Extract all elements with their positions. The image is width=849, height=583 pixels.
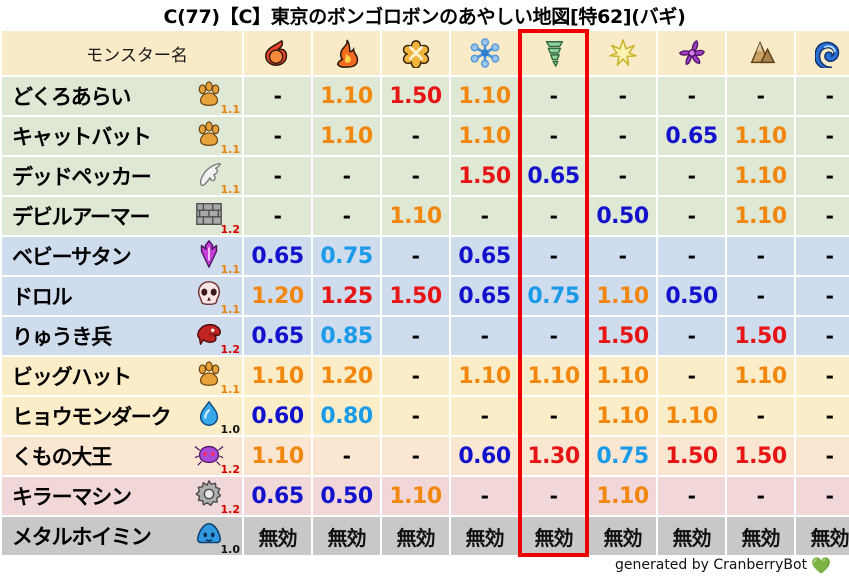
footer-credit: generated by CranberryBot💚: [615, 556, 831, 575]
droplet-icon: [194, 399, 224, 429]
resist-cell-io: -: [382, 157, 449, 195]
monster-name: くもの大王: [12, 441, 111, 471]
monster-multiplier: 1.2: [221, 343, 241, 356]
resist-cell-gira: -: [313, 437, 380, 475]
resist-cell-dein: -: [589, 77, 656, 115]
fireball-icon: [244, 38, 311, 68]
monster-multiplier: 1.2: [221, 503, 241, 516]
resist-cell-dein: 0.75: [589, 437, 656, 475]
resist-cell-io: -: [382, 237, 449, 275]
resist-cell-dorma: -: [658, 197, 725, 235]
pawprint-icon: [194, 119, 224, 149]
monster-name: ドロル: [12, 281, 71, 311]
resist-cell-dorma: 0.65: [658, 117, 725, 155]
resist-cell-bagi: 1.30: [520, 437, 587, 475]
resist-cell-gira: 無効: [313, 517, 380, 555]
resist-cell-bagi: 0.75: [520, 277, 587, 315]
resist-cell-meragi: -: [244, 197, 311, 235]
monster-name: メタルホイミン: [12, 521, 151, 551]
resist-cell-meragi: 無効: [244, 517, 311, 555]
resist-cell-hyado: 1.10: [451, 117, 518, 155]
monster-name-cell[interactable]: キラーマシン1.2: [2, 477, 242, 515]
resist-cell-merazoma: 無効: [796, 517, 849, 555]
resist-cell-jiba: 1.10: [727, 157, 794, 195]
resist-cell-merazoma: -: [796, 317, 849, 355]
resist-cell-meragi: 0.65: [244, 237, 311, 275]
resist-cell-bagi: 0.65: [520, 157, 587, 195]
monster-name: デッドペッカー: [12, 161, 151, 191]
table-row: メタルホイミン1.0無効無効無効無効無効無効無効無効無効: [2, 517, 849, 555]
resist-cell-dein: 0.50: [589, 197, 656, 235]
resist-cell-jiba: 1.10: [727, 197, 794, 235]
resist-cell-gira: -: [313, 197, 380, 235]
column-header-meragi[interactable]: [244, 31, 311, 75]
report-page: C(77)【C】東京のボンゴロボンのあやしい地図[特62](バギ) モンスター名…: [0, 0, 849, 583]
resist-cell-io: -: [382, 357, 449, 395]
resist-cell-dorma: 無効: [658, 517, 725, 555]
monster-name: キャットバット: [12, 121, 151, 151]
resist-cell-dein: 1.10: [589, 477, 656, 515]
pawprint-icon: [194, 79, 224, 109]
resist-cell-dorma: 1.10: [658, 397, 725, 435]
resist-cell-hyado: 1.10: [451, 77, 518, 115]
resist-cell-io: 1.50: [382, 277, 449, 315]
monster-multiplier: 1.1: [221, 103, 241, 116]
explosion-icon: [382, 38, 449, 68]
resist-cell-gira: 1.10: [313, 77, 380, 115]
resist-cell-meragi: -: [244, 77, 311, 115]
resist-cell-meragi: 0.65: [244, 477, 311, 515]
skull-icon: [194, 279, 224, 309]
resist-cell-hyado: -: [451, 397, 518, 435]
monster-name-cell[interactable]: デビルアーマー1.2: [2, 197, 242, 235]
resist-cell-dein: 無効: [589, 517, 656, 555]
pawprint-icon: [194, 359, 224, 389]
table-row: ヒョウモンダーク1.00.600.80---1.101.10--: [2, 397, 849, 435]
monster-name-cell[interactable]: ヒョウモンダーク1.0: [2, 397, 242, 435]
resist-cell-hyado: -: [451, 197, 518, 235]
resist-cell-jiba: 無効: [727, 517, 794, 555]
column-header-bagi[interactable]: [520, 31, 587, 75]
monster-name-cell[interactable]: メタルホイミン1.0: [2, 517, 242, 555]
resist-cell-meragi: 1.10: [244, 357, 311, 395]
resist-cell-io: 1.10: [382, 197, 449, 235]
resist-cell-dein: 1.50: [589, 317, 656, 355]
resist-cell-bagi: -: [520, 397, 587, 435]
lightburst-icon: [589, 38, 656, 68]
footer-text: generated by CranberryBot: [615, 557, 807, 573]
table-row: デッドペッカー1.1---1.500.65--1.10-: [2, 157, 849, 195]
resist-cell-dorma: -: [658, 237, 725, 275]
monster-name: ビッグハット: [12, 361, 131, 391]
resist-cell-meragi: -: [244, 157, 311, 195]
resist-cell-bagi: -: [520, 77, 587, 115]
wing-icon: [194, 159, 224, 189]
table-row: キャットバット1.1-1.10-1.10--0.651.10-: [2, 117, 849, 155]
table-body: どくろあらい1.1-1.101.501.10-----キャットバット1.1-1.…: [2, 77, 849, 555]
resist-cell-dorma: 0.50: [658, 277, 725, 315]
monster-name-cell[interactable]: ドロル1.1: [2, 277, 242, 315]
resist-cell-dein: -: [589, 117, 656, 155]
resist-cell-jiba: 1.50: [727, 317, 794, 355]
monster-name-cell[interactable]: デッドペッカー1.1: [2, 157, 242, 195]
monster-multiplier: 1.1: [221, 303, 241, 316]
resist-cell-gira: 0.75: [313, 237, 380, 275]
resist-cell-dorma: 1.50: [658, 437, 725, 475]
cranberry-icon: 💚: [811, 556, 831, 575]
column-header-dorma[interactable]: [658, 31, 725, 75]
resist-cell-jiba: 1.10: [727, 357, 794, 395]
resist-cell-merazoma: -: [796, 357, 849, 395]
monster-multiplier: 1.1: [221, 183, 241, 196]
resist-cell-bagi: -: [520, 117, 587, 155]
table-row: どくろあらい1.1-1.101.501.10-----: [2, 77, 849, 115]
dragon-icon: [194, 319, 224, 349]
resist-cell-gira: -: [313, 157, 380, 195]
monster-name: キラーマシン: [12, 481, 131, 511]
resist-cell-jiba: -: [727, 397, 794, 435]
column-header-dein[interactable]: [589, 31, 656, 75]
table-row: くもの大王1.21.10--0.601.300.751.501.50-: [2, 437, 849, 475]
resist-cell-hyado: 1.10: [451, 357, 518, 395]
resist-cell-meragi: 1.20: [244, 277, 311, 315]
resist-cell-io: -: [382, 437, 449, 475]
resistance-table: モンスター名 どくろあらい1.1-1.101.501.10-----キャットバッ…: [0, 29, 849, 557]
resist-cell-io: -: [382, 117, 449, 155]
resist-cell-dorma: -: [658, 157, 725, 195]
resist-cell-jiba: 1.10: [727, 117, 794, 155]
resist-cell-dein: 1.10: [589, 357, 656, 395]
resist-cell-merazoma: -: [796, 157, 849, 195]
resist-cell-merazoma: -: [796, 77, 849, 115]
resist-cell-merazoma: -: [796, 237, 849, 275]
resist-cell-jiba: -: [727, 477, 794, 515]
resist-cell-jiba: -: [727, 277, 794, 315]
monster-multiplier: 1.1: [221, 143, 241, 156]
table-row: ドロル1.11.201.251.500.650.751.100.50--: [2, 277, 849, 315]
tornado-icon: [520, 38, 587, 68]
resist-cell-bagi: 無効: [520, 517, 587, 555]
resist-cell-bagi: 1.10: [520, 357, 587, 395]
slime-icon: [194, 519, 224, 549]
flame-icon: [313, 38, 380, 68]
resist-cell-io: 1.10: [382, 477, 449, 515]
resist-cell-meragi: 0.65: [244, 317, 311, 355]
monster-name-cell[interactable]: どくろあらい1.1: [2, 77, 242, 115]
spider-icon: [194, 439, 224, 469]
resist-cell-meragi: 1.10: [244, 437, 311, 475]
page-title: C(77)【C】東京のボンゴロボンのあやしい地図[特62](バギ): [0, 0, 849, 29]
table-row: りゅうき兵1.20.650.85---1.50-1.50-: [2, 317, 849, 355]
resist-cell-dorma: -: [658, 77, 725, 115]
resist-cell-merazoma: -: [796, 397, 849, 435]
column-header-gira[interactable]: [313, 31, 380, 75]
resist-cell-dein: -: [589, 237, 656, 275]
monster-multiplier: 1.0: [221, 543, 241, 556]
table-row: デビルアーマー1.2--1.10--0.50-1.10-: [2, 197, 849, 235]
resist-cell-io: -: [382, 397, 449, 435]
resist-cell-meragi: -: [244, 117, 311, 155]
resist-cell-gira: 0.85: [313, 317, 380, 355]
trident-icon: [194, 239, 224, 269]
resist-cell-jiba: 1.50: [727, 437, 794, 475]
monster-multiplier: 1.1: [221, 263, 241, 276]
resist-cell-merazoma: -: [796, 437, 849, 475]
resist-cell-gira: 0.80: [313, 397, 380, 435]
resist-cell-bagi: -: [520, 317, 587, 355]
monster-name-cell[interactable]: キャットバット1.1: [2, 117, 242, 155]
resist-cell-bagi: -: [520, 477, 587, 515]
resist-cell-io: 無効: [382, 517, 449, 555]
resist-cell-merazoma: -: [796, 117, 849, 155]
resist-cell-gira: 1.25: [313, 277, 380, 315]
monster-name: デビルアーマー: [12, 201, 149, 231]
resist-cell-merazoma: -: [796, 477, 849, 515]
gear-icon: [194, 479, 224, 509]
resist-cell-dorma: -: [658, 357, 725, 395]
resist-cell-dein: 1.10: [589, 277, 656, 315]
resist-cell-dein: 1.10: [589, 397, 656, 435]
table-row: ベビーサタン1.10.650.75-0.65-----: [2, 237, 849, 275]
column-header-monster-name: モンスター名: [2, 31, 242, 75]
brick-icon: [194, 199, 224, 229]
resist-cell-jiba: -: [727, 237, 794, 275]
resist-cell-jiba: -: [727, 77, 794, 115]
column-header-merazoma[interactable]: [796, 31, 849, 75]
column-header-hyado[interactable]: [451, 31, 518, 75]
resist-cell-hyado: -: [451, 317, 518, 355]
snowflake-icon: [451, 38, 518, 68]
monster-name-cell[interactable]: りゅうき兵1.2: [2, 317, 242, 355]
monster-multiplier: 1.2: [221, 223, 241, 236]
resist-cell-io: 1.50: [382, 77, 449, 115]
resist-cell-hyado: 1.50: [451, 157, 518, 195]
monster-multiplier: 1.2: [221, 463, 241, 476]
monster-name: りゅうき兵: [12, 321, 111, 351]
column-header-io[interactable]: [382, 31, 449, 75]
resist-cell-hyado: -: [451, 477, 518, 515]
darkspin-icon: [658, 38, 725, 68]
table-row: ビッグハット1.11.101.20-1.101.101.10-1.10-: [2, 357, 849, 395]
resist-cell-bagi: -: [520, 237, 587, 275]
resist-cell-hyado: 無効: [451, 517, 518, 555]
resist-cell-hyado: 0.65: [451, 237, 518, 275]
resist-cell-dein: -: [589, 157, 656, 195]
monster-name-cell[interactable]: くもの大王1.2: [2, 437, 242, 475]
table-row: キラーマシン1.20.650.501.10--1.10---: [2, 477, 849, 515]
monster-multiplier: 1.1: [221, 383, 241, 396]
resist-cell-merazoma: -: [796, 277, 849, 315]
resist-cell-merazoma: -: [796, 197, 849, 235]
resist-cell-meragi: 0.60: [244, 397, 311, 435]
resist-cell-hyado: 0.60: [451, 437, 518, 475]
monster-name: ベビーサタン: [12, 241, 130, 271]
mountain-icon: [727, 38, 794, 68]
column-header-jiba[interactable]: [727, 31, 794, 75]
monster-multiplier: 1.0: [221, 423, 241, 436]
resist-cell-hyado: 0.65: [451, 277, 518, 315]
resist-cell-dorma: -: [658, 317, 725, 355]
monster-name: どくろあらい: [12, 81, 130, 111]
resist-cell-dorma: -: [658, 477, 725, 515]
header-row: モンスター名: [2, 31, 849, 75]
resist-cell-bagi: -: [520, 197, 587, 235]
monster-name-cell[interactable]: ビッグハット1.1: [2, 357, 242, 395]
resist-cell-io: -: [382, 317, 449, 355]
monster-name: ヒョウモンダーク: [12, 401, 170, 431]
resist-cell-gira: 1.10: [313, 117, 380, 155]
resist-cell-gira: 1.20: [313, 357, 380, 395]
resist-cell-gira: 0.50: [313, 477, 380, 515]
wave-icon: [796, 38, 849, 68]
table-head: モンスター名: [2, 31, 849, 75]
monster-name-cell[interactable]: ベビーサタン1.1: [2, 237, 242, 275]
